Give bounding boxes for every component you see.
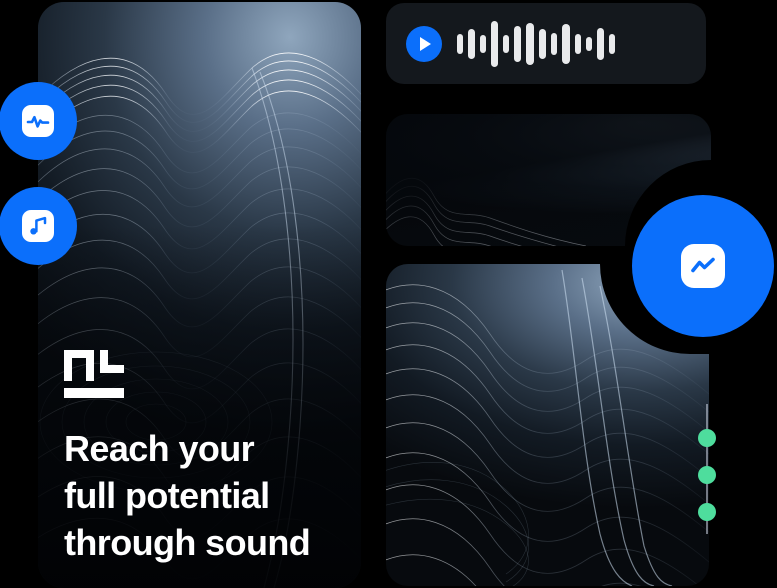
pulse-icon: [22, 105, 54, 137]
music-note-glyph: [26, 214, 50, 238]
waveform-bar[interactable]: [457, 34, 463, 54]
waveform-bar[interactable]: [468, 29, 475, 59]
play-button[interactable]: [406, 26, 442, 62]
music-note-icon: [22, 210, 54, 242]
waveform-bar[interactable]: [539, 29, 546, 59]
waveform-bar[interactable]: [609, 34, 615, 54]
headline-line-1: Reach your: [64, 425, 343, 472]
waveform-bar[interactable]: [503, 35, 509, 53]
waveform-bar[interactable]: [514, 26, 521, 62]
zigzag-chart-icon: [681, 244, 725, 288]
ml-monogram-logo: [64, 350, 343, 403]
waveform-bar[interactable]: [480, 35, 486, 53]
audio-waveform[interactable]: [457, 20, 615, 68]
play-triangle-icon: [420, 37, 431, 51]
step-indicator[interactable]: [706, 404, 708, 534]
waveform-bar[interactable]: [491, 21, 498, 67]
music-note-icon-button[interactable]: [0, 187, 77, 265]
waveform-bar[interactable]: [562, 24, 570, 64]
zigzag-glyph: [688, 251, 718, 281]
page-title: Reach your full potential through sound: [64, 425, 343, 566]
waveform-bar[interactable]: [551, 33, 557, 55]
headline-line-2: full potential: [64, 472, 343, 519]
hero-content: Reach your full potential through sound: [64, 350, 343, 566]
hero-card: Reach your full potential through sound: [38, 2, 361, 588]
waveform-bar[interactable]: [586, 37, 592, 51]
step-dot[interactable]: [698, 503, 716, 521]
step-dot[interactable]: [698, 466, 716, 484]
step-dot[interactable]: [698, 429, 716, 447]
brand-mark-circle[interactable]: [632, 195, 774, 337]
pulse-icon-button[interactable]: [0, 82, 77, 160]
headline-line-3: through sound: [64, 519, 343, 566]
pulse-glyph: [26, 109, 50, 133]
waveform-bar[interactable]: [597, 28, 604, 60]
waveform-bar[interactable]: [526, 23, 534, 65]
logo-mark: [64, 350, 126, 398]
poster-canvas: Reach your full potential through sound: [0, 0, 777, 588]
waveform-bar[interactable]: [575, 34, 581, 54]
audio-player-bar: [386, 3, 706, 84]
